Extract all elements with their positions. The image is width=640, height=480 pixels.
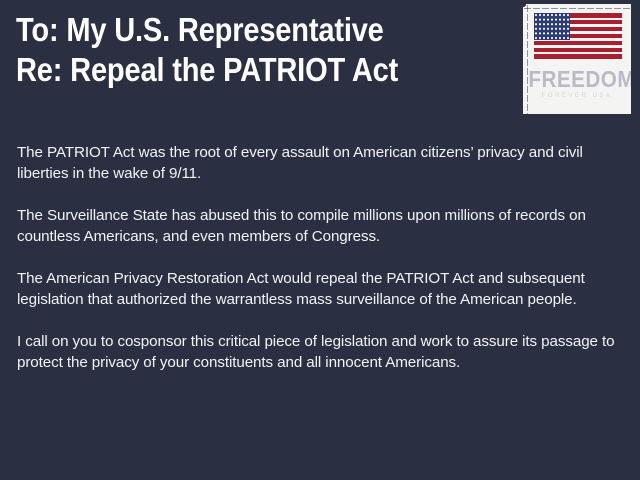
stamp-forever-label: FOREVER USA [523, 92, 631, 99]
letter-body: The PATRIOT Act was the root of every as… [17, 142, 625, 373]
page-title: To: My U.S. Representative Re: Repeal th… [16, 10, 486, 90]
flag-stripe [570, 34, 622, 39]
flag-stripe [570, 13, 622, 18]
stamp-artwork: FREEDOM FOREVER USA [523, 4, 631, 114]
flag-stripe [570, 20, 622, 25]
flag-stripe [534, 54, 622, 59]
us-flag-forever-stamp-icon: FREEDOM FOREVER USA [523, 4, 631, 114]
letter-poster: To: My U.S. Representative Re: Repeal th… [0, 0, 640, 480]
flag-stripe [570, 27, 622, 32]
headline-line-re: Re: Repeal the PATRIOT Act [16, 50, 430, 90]
headline-line-to: To: My U.S. Representative [16, 10, 430, 50]
letter-paragraph: The Surveillance State has abused this t… [17, 205, 625, 247]
letter-paragraph: I call on you to cosponsor this critical… [17, 331, 625, 373]
letter-paragraph: The PATRIOT Act was the root of every as… [17, 142, 625, 184]
us-flag-icon [534, 13, 622, 61]
flag-stripe [534, 41, 622, 46]
letter-paragraph: The American Privacy Restoration Act wou… [17, 268, 625, 310]
stamp-freedom-label: FREEDOM [528, 66, 625, 93]
flag-stripe [534, 48, 622, 53]
flag-canton-stars [534, 13, 570, 40]
